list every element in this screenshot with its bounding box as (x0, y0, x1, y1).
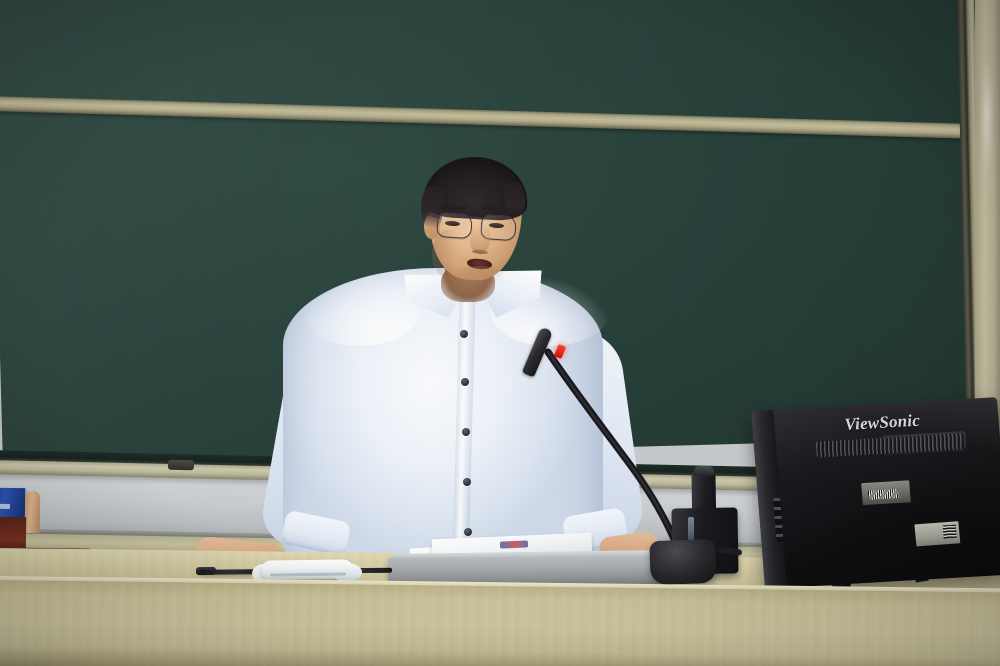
microphone-base (649, 539, 716, 585)
shoulder-left-highlight (300, 276, 420, 346)
audio-receiver-antenna-cap (694, 466, 714, 476)
shirt-button (462, 428, 470, 436)
photo-scene: ViewSonic (0, 0, 1000, 666)
viewsonic-monitor-rear: ViewSonic (751, 397, 1000, 589)
eyeglasses-lens-left (436, 212, 473, 239)
monitor-bevel-highlight (751, 397, 1000, 589)
shirt-button (464, 528, 472, 536)
shirt-button (461, 378, 469, 386)
chin-shadow (452, 266, 506, 286)
paper-color-mark (500, 540, 528, 548)
shirt-button (460, 330, 468, 338)
shirt-button (463, 478, 471, 486)
eyebrow-left (440, 206, 466, 211)
